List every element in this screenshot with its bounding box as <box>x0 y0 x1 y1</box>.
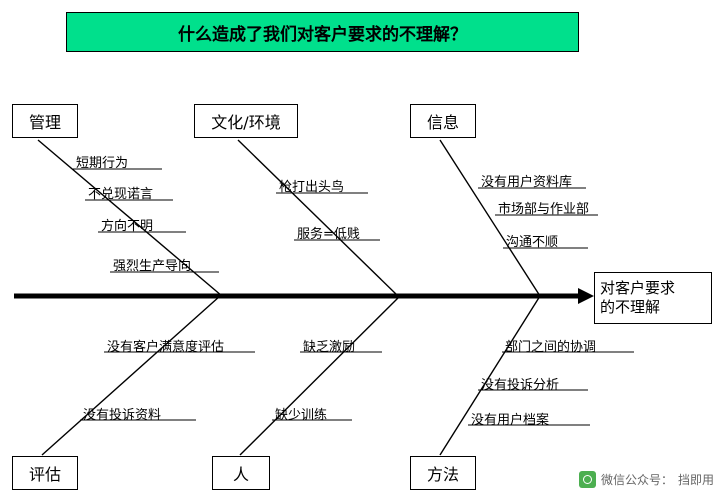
cause-label-evaluation-1: 没有客户满意度评估 <box>107 336 224 355</box>
cause-label-method-3: 没有用户档案 <box>471 409 549 428</box>
cause-label-information-1: 没有用户资料库 <box>481 171 572 190</box>
cause-label-people-2: 缺少训练 <box>275 404 327 423</box>
cause-label-method-1: 部门之间的协调 <box>505 336 596 355</box>
cause-label-management-4: 强烈生产导向 <box>113 255 191 274</box>
watermark-text: 微信公众号： <box>601 471 673 488</box>
category-label-information: 信息 <box>427 109 459 133</box>
bone-information <box>440 140 540 296</box>
watermark-account: 挡即用 <box>678 471 714 488</box>
bone-evaluation <box>42 296 220 455</box>
cause-label-evaluation-2: 没有投诉资料 <box>83 404 161 423</box>
page-title: 什么造成了我们对客户要求的不理解？ <box>178 20 467 45</box>
cause-label-culture-1: 枪打出头鸟 <box>279 176 344 195</box>
watermark: 微信公众号：挡即用 <box>579 471 714 488</box>
category-label-culture-environment: 文化/环境 <box>211 109 280 133</box>
fishbone-diagram: 什么造成了我们对客户要求的不理解？ 管理 文化/环境 信息 评估 人 方法 对客… <box>0 0 722 498</box>
bone-people <box>240 296 400 455</box>
cause-label-management-2: 不兑现诺言 <box>88 183 153 202</box>
effect-box[interactable]: 对客户要求 的不理解 <box>594 272 712 324</box>
effect-line-2: 的不理解 <box>600 298 675 317</box>
category-label-management: 管理 <box>29 109 61 133</box>
cause-label-method-2: 没有投诉分析 <box>481 374 559 393</box>
category-box-people[interactable]: 人 <box>212 456 270 490</box>
category-label-method: 方法 <box>427 461 459 485</box>
category-box-culture-environment[interactable]: 文化/环境 <box>194 104 298 138</box>
bone-culture <box>238 140 398 296</box>
category-label-evaluation: 评估 <box>29 461 61 485</box>
cause-label-management-1: 短期行为 <box>76 152 128 171</box>
cause-label-people-1: 缺乏激励 <box>303 336 355 355</box>
diagram-lines <box>0 0 722 498</box>
cause-label-culture-2: 服务=低贱 <box>297 223 360 242</box>
wechat-logo-icon <box>579 471 596 488</box>
category-box-method[interactable]: 方法 <box>410 456 476 490</box>
category-box-evaluation[interactable]: 评估 <box>12 456 78 490</box>
cause-label-information-2: 市场部与作业部 <box>498 198 589 217</box>
spine-arrow <box>14 288 594 304</box>
diagram-title-box: 什么造成了我们对客户要求的不理解？ <box>66 12 579 52</box>
cause-label-management-3: 方向不明 <box>101 215 153 234</box>
cause-label-information-3: 沟通不顺 <box>506 231 558 250</box>
effect-line-1: 对客户要求 <box>600 279 675 298</box>
category-box-management[interactable]: 管理 <box>12 104 78 138</box>
category-label-people: 人 <box>233 461 249 485</box>
category-box-information[interactable]: 信息 <box>410 104 476 138</box>
